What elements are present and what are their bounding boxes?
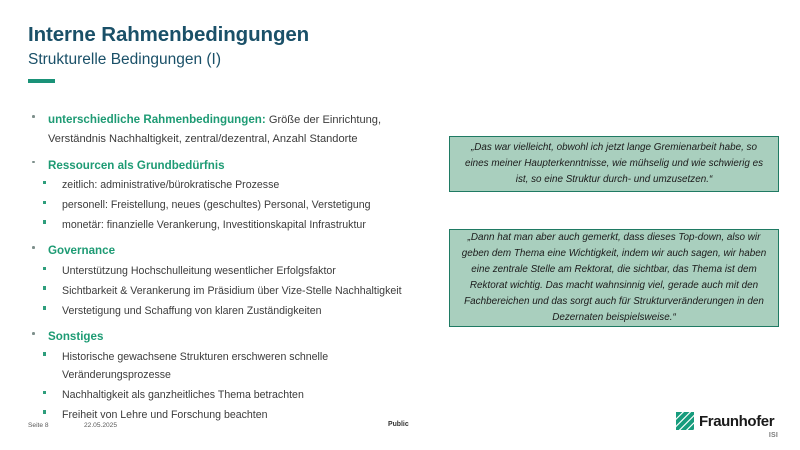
quote-text: „Dann hat man aber auch gemerkt, dass di… <box>459 230 769 326</box>
bullet-dot-icon <box>32 115 35 118</box>
logo-wordmark: Fraunhofer <box>699 414 774 429</box>
bullet-sublist: Historische gewachsene Strukturen erschw… <box>29 347 429 423</box>
bullet-level2-text: Unterstützung Hochschulleitung wesentlic… <box>62 265 336 277</box>
fraunhofer-logo: Fraunhofer ISI <box>676 412 780 439</box>
bullet-level1-heading: Ressourcen als Grundbedürfnis <box>48 159 225 172</box>
bullet-level1-heading: Sonstiges <box>48 330 103 343</box>
slide-canvas: Interne Rahmenbedingungen Strukturelle B… <box>0 0 800 450</box>
title-accent-bar <box>28 79 55 83</box>
bullet-level2: Verstetigung und Schaffung von klaren Zu… <box>29 301 429 319</box>
bullet-group: Ressourcen als Grundbedürfniszeitlich: a… <box>29 156 429 234</box>
bullet-level2-text: Nachhaltigkeit als ganzheitliches Thema … <box>62 389 304 401</box>
logo-row: Fraunhofer <box>676 412 780 430</box>
bullet-level1: Sonstiges <box>29 327 429 346</box>
bullet-level2-text: monetär: finanzielle Verankerung, Invest… <box>62 219 366 231</box>
bullet-level1: Governance <box>29 241 429 260</box>
bullet-level1-heading: Governance <box>48 244 115 257</box>
bullet-square-icon <box>43 391 46 394</box>
bullet-level2-text: zeitlich: administrative/bürokratische P… <box>62 179 279 191</box>
bullet-square-icon <box>43 220 46 223</box>
bullet-level2: Freiheit von Lehre und Forschung beachte… <box>29 405 429 423</box>
bullet-level1-text: Governance <box>48 245 115 257</box>
bullet-level1: unterschiedliche Rahmenbedingungen: Größ… <box>29 110 429 148</box>
bullet-level2-text: Freiheit von Lehre und Forschung beachte… <box>62 409 268 421</box>
quote-text: „Das war vielleicht, obwohl ich jetzt la… <box>459 140 769 188</box>
bullet-square-icon <box>43 286 46 289</box>
bullet-level1-text: unterschiedliche Rahmenbedingungen: Größ… <box>48 114 381 145</box>
footer-date: 22.05.2025 <box>84 422 117 429</box>
bullet-dot-icon <box>32 332 35 335</box>
bullet-dot-icon <box>32 161 35 164</box>
bullet-square-icon <box>43 181 46 184</box>
bullet-level2: Nachhaltigkeit als ganzheitliches Thema … <box>29 385 429 403</box>
bullet-group: SonstigesHistorische gewachsene Struktur… <box>29 327 429 423</box>
bullet-sublist: zeitlich: administrative/bürokratische P… <box>29 175 429 233</box>
logo-institute-label: ISI <box>676 432 780 439</box>
bullet-square-icon <box>43 410 46 413</box>
title-block: Interne Rahmenbedingungen Strukturelle B… <box>28 24 548 83</box>
bullet-level1-text: Ressourcen als Grundbedürfnis <box>48 160 225 172</box>
bullet-square-icon <box>43 352 46 355</box>
bullet-square-icon <box>43 306 46 309</box>
bullet-square-icon <box>43 201 46 204</box>
bullet-level1-text: Sonstiges <box>48 331 103 343</box>
bullet-level2: monetär: finanzielle Verankerung, Invest… <box>29 215 429 233</box>
bullet-level2: personell: Freistellung, neues (geschult… <box>29 195 429 213</box>
bullet-level1-heading: unterschiedliche Rahmenbedingungen: <box>48 113 266 126</box>
bullet-level2: Unterstützung Hochschulleitung wesentlic… <box>29 261 429 279</box>
bullet-level2-text: Verstetigung und Schaffung von klaren Zu… <box>62 305 322 317</box>
footer-classification-label: Public <box>388 421 409 428</box>
bullet-level2: Sichtbarkeit & Verankerung im Präsidium … <box>29 281 429 299</box>
bullet-level2-text: Sichtbarkeit & Verankerung im Präsidium … <box>62 285 402 297</box>
bullet-level2-text: Historische gewachsene Strukturen erschw… <box>62 351 328 381</box>
quote-box-1: „Das war vielleicht, obwohl ich jetzt la… <box>449 136 779 192</box>
page-subtitle: Strukturelle Bedingungen (I) <box>28 51 548 70</box>
bullet-sublist: Unterstützung Hochschulleitung wesentlic… <box>29 261 429 319</box>
bullet-list: unterschiedliche Rahmenbedingungen: Größ… <box>29 110 429 428</box>
bullet-level2: zeitlich: administrative/bürokratische P… <box>29 175 429 193</box>
footer-page-label: Seite 8 <box>28 422 49 429</box>
bullet-square-icon <box>43 267 46 270</box>
bullet-level2-text: personell: Freistellung, neues (geschult… <box>62 199 371 211</box>
bullet-group: unterschiedliche Rahmenbedingungen: Größ… <box>29 110 429 148</box>
bullet-group: GovernanceUnterstützung Hochschulleitung… <box>29 241 429 319</box>
fraunhofer-mark-icon <box>676 412 694 430</box>
page-title: Interne Rahmenbedingungen <box>28 24 548 47</box>
bullet-level1: Ressourcen als Grundbedürfnis <box>29 156 429 175</box>
quote-box-2: „Dann hat man aber auch gemerkt, dass di… <box>449 229 779 327</box>
bullet-dot-icon <box>32 246 35 249</box>
bullet-level2: Historische gewachsene Strukturen erschw… <box>29 347 429 384</box>
